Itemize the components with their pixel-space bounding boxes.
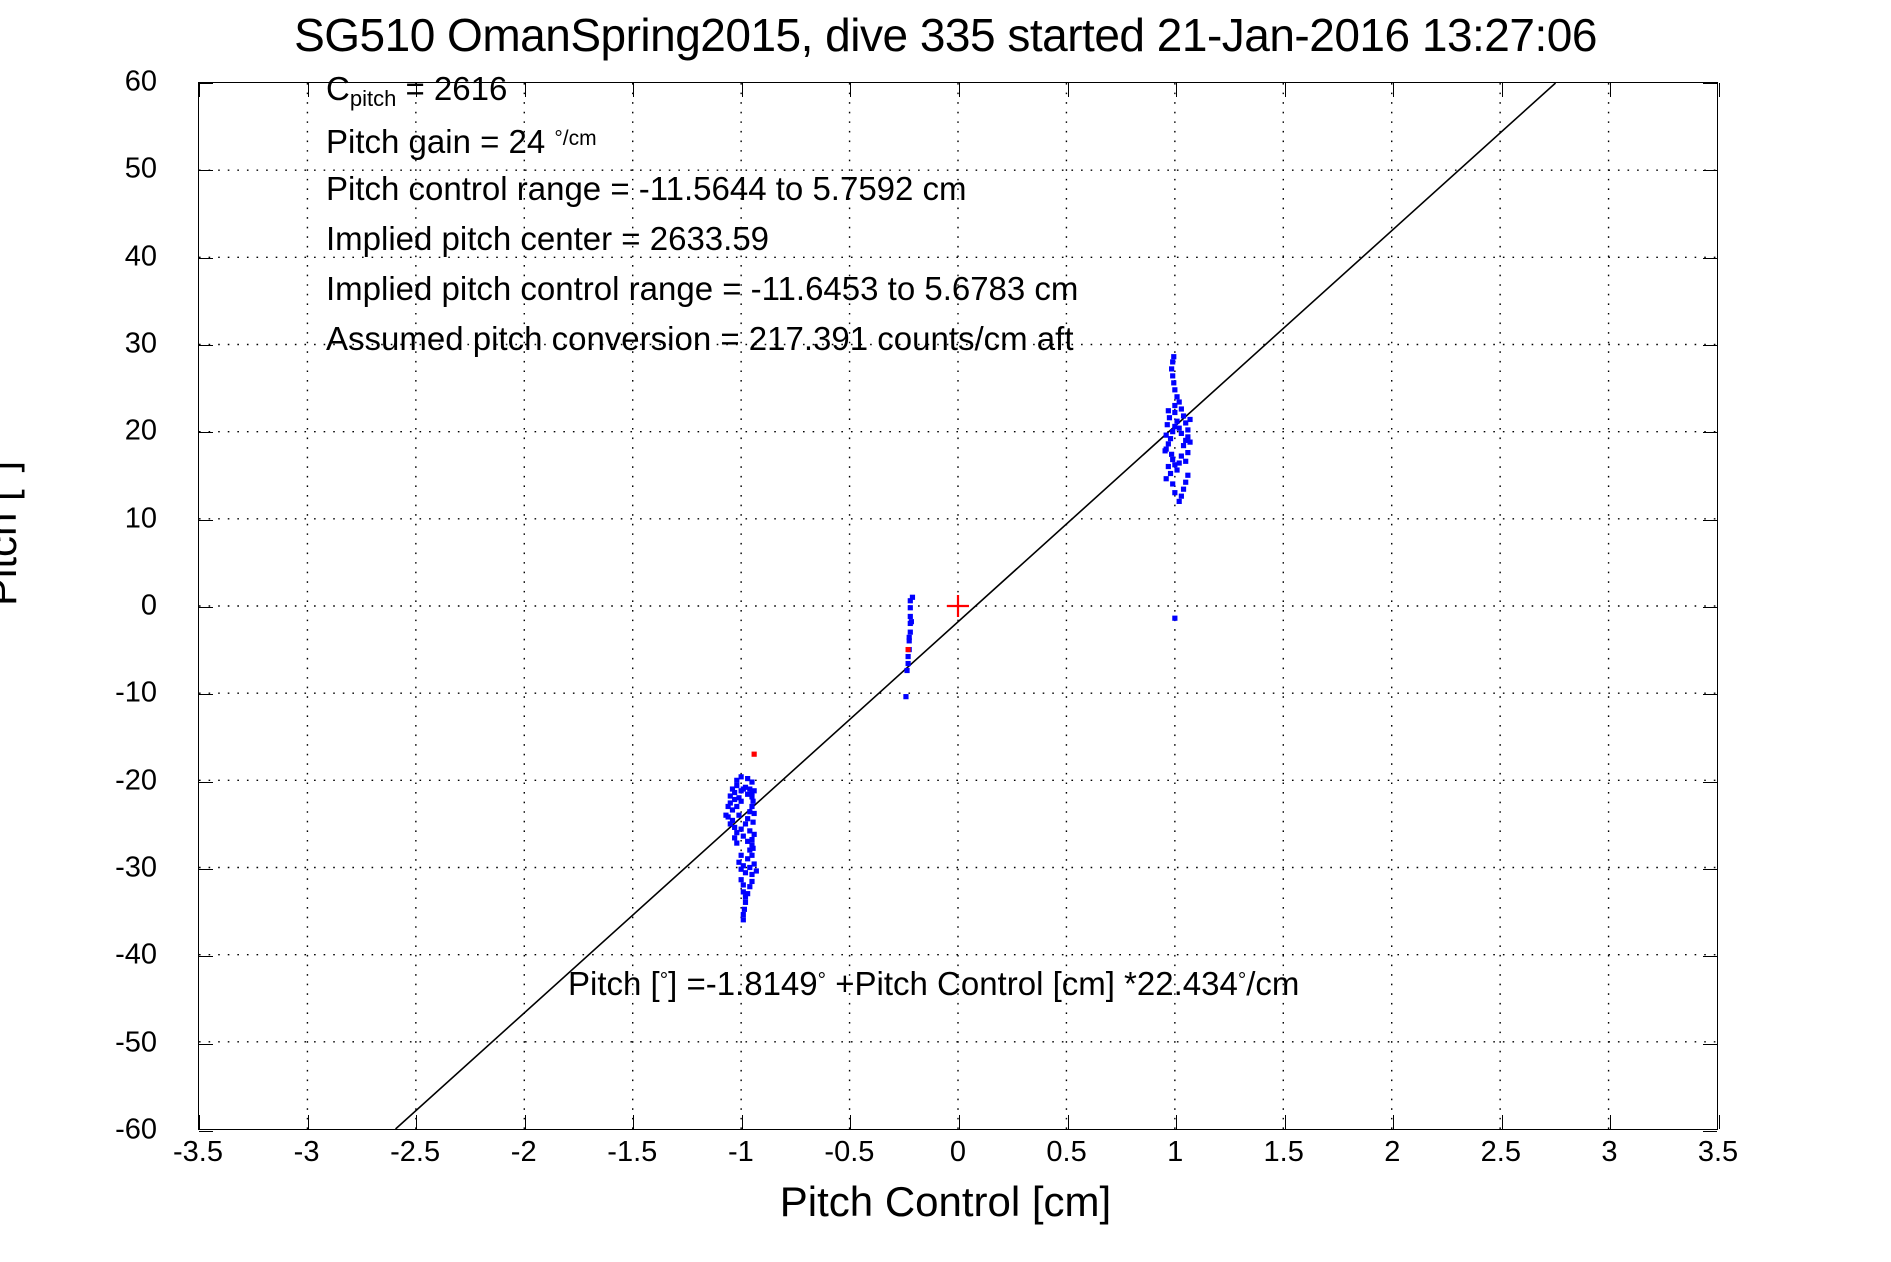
data-point [1177, 460, 1182, 465]
x-tick-label: 3.5 [1648, 1136, 1788, 1169]
data-point [1174, 467, 1179, 472]
y-tick-mark [1703, 782, 1717, 783]
series-outliers-markers [752, 647, 911, 757]
data-point [1177, 499, 1182, 504]
y-tick-mark [1703, 83, 1717, 84]
y-tick-mark [199, 1044, 213, 1045]
data-point [1170, 481, 1175, 486]
data-point [908, 614, 913, 619]
data-point [745, 891, 750, 896]
y-tick-mark [1703, 432, 1717, 433]
data-point [747, 884, 752, 889]
data-point [745, 816, 750, 821]
data-point [1183, 480, 1188, 485]
chart-title: SG510 OmanSpring2015, dive 335 started 2… [0, 8, 1891, 62]
x-tick-mark [1393, 1115, 1394, 1129]
data-point [734, 783, 739, 788]
x-axis-label: Pitch Control [cm] [0, 1178, 1891, 1226]
equation-part2: ] =-1.8149 [668, 965, 818, 1002]
data-point [1177, 426, 1182, 431]
c-pitch-value: = 2616 [396, 70, 507, 107]
data-point [1169, 452, 1174, 457]
data-point [1187, 440, 1192, 445]
equation-degree-3: ° [1238, 969, 1246, 992]
data-point [904, 668, 909, 673]
y-tick-mark [199, 345, 213, 346]
data-point [1185, 450, 1190, 455]
equation-degree-1: ° [660, 969, 668, 992]
equation-degree-2: ° [818, 969, 826, 992]
data-point [1163, 448, 1168, 453]
data-point [745, 839, 750, 844]
y-tick-mark [1703, 1044, 1717, 1045]
y-tick-mark [199, 520, 213, 521]
data-point [1172, 616, 1177, 621]
y-tick-mark [1703, 694, 1717, 695]
data-point [750, 846, 755, 851]
annotation-pitch-gain: Pitch gain = 24 °/cm [326, 114, 1426, 164]
data-point [726, 804, 731, 809]
y-tick-label: 30 [37, 328, 157, 361]
data-point [1172, 387, 1177, 392]
data-point [1170, 429, 1175, 434]
data-point [909, 619, 914, 624]
equation-part1: Pitch [ [568, 965, 660, 1002]
y-tick-mark [1703, 956, 1717, 957]
y-tick-mark [199, 694, 213, 695]
y-tick-label: -20 [37, 764, 157, 797]
data-point [1164, 476, 1169, 481]
y-tick-mark [1703, 520, 1717, 521]
data-point [903, 694, 908, 699]
data-point [723, 813, 728, 818]
data-point [743, 900, 748, 905]
data-point [728, 793, 733, 798]
data-point [1183, 459, 1188, 464]
annotation-pitch-control-range: Pitch control range = -11.5644 to 5.7592… [326, 164, 1426, 214]
x-tick-mark [1176, 1115, 1177, 1129]
y-tick-mark [199, 432, 213, 433]
data-point [732, 835, 737, 840]
c-pitch-subscript: pitch [350, 86, 396, 111]
y-tick-mark [1703, 258, 1717, 259]
equation-part4: /cm [1246, 965, 1299, 1002]
x-tick-mark [742, 1115, 743, 1129]
x-tick-mark [1285, 1115, 1286, 1129]
data-point [734, 804, 739, 809]
y-tick-mark [199, 782, 213, 783]
data-point [1172, 410, 1177, 415]
data-point [906, 654, 911, 659]
y-tick-label: 60 [37, 66, 157, 99]
data-point [752, 861, 757, 866]
x-tick-mark [850, 1115, 851, 1129]
data-point [749, 804, 754, 809]
data-point [1185, 427, 1190, 432]
data-point [906, 661, 911, 666]
y-tick-mark [1703, 869, 1717, 870]
data-point [736, 813, 741, 818]
data-point [741, 834, 746, 839]
data-point [749, 879, 754, 884]
data-point [910, 595, 915, 600]
series-pitch-center-marker [947, 595, 969, 617]
y-tick-mark [1703, 1131, 1717, 1132]
data-point [1172, 490, 1177, 495]
y-tick-mark [199, 956, 213, 957]
annotation-implied-pitch-control-range: Implied pitch control range = -11.6453 t… [326, 264, 1426, 314]
data-point [1168, 471, 1173, 476]
data-point [1187, 417, 1192, 422]
data-point [1185, 434, 1190, 439]
data-point [749, 779, 754, 784]
series-pitch-observations [723, 354, 1192, 922]
x-tick-mark [633, 1115, 634, 1129]
data-point [1174, 419, 1179, 424]
data-point [1172, 403, 1177, 408]
y-tick-mark [1703, 345, 1717, 346]
data-point [752, 832, 757, 837]
data-point [908, 630, 913, 635]
x-tick-mark [1719, 1115, 1720, 1129]
data-point [739, 853, 744, 858]
y-tick-label: -10 [37, 677, 157, 710]
data-point [754, 868, 759, 873]
x-tick-mark [1502, 83, 1503, 97]
data-point [752, 788, 757, 793]
data-point [739, 827, 744, 832]
y-axis-label: Pitch [°] [0, 461, 26, 606]
data-point [1167, 415, 1172, 420]
data-point [1170, 457, 1175, 462]
y-tick-mark [1703, 170, 1717, 171]
x-tick-mark [308, 83, 309, 97]
data-point [1164, 433, 1169, 438]
y-tick-label: -50 [37, 1026, 157, 1059]
pitch-gain-units: °/cm [554, 127, 596, 150]
y-tick-label: -30 [37, 852, 157, 885]
data-point [730, 818, 735, 823]
data-point [907, 635, 912, 640]
data-point [1179, 453, 1184, 458]
c-pitch-prefix: C [326, 70, 350, 107]
fit-equation-label: Pitch [°] =-1.8149° +Pitch Control [cm] … [568, 965, 1299, 1003]
x-tick-mark [1719, 83, 1720, 97]
data-point [1170, 373, 1175, 378]
marker-plus [947, 595, 969, 617]
data-point [1179, 406, 1184, 411]
y-tick-mark [1703, 607, 1717, 608]
data-point [750, 820, 755, 825]
y-tick-label: 50 [37, 153, 157, 186]
y-tick-mark [199, 170, 213, 171]
x-tick-mark [1068, 1115, 1069, 1129]
data-point [1166, 464, 1171, 469]
x-tick-mark [416, 1115, 417, 1129]
x-tick-mark [308, 1115, 309, 1129]
data-point [749, 853, 754, 858]
equation-part3: +Pitch Control [cm] *22.434 [826, 965, 1238, 1002]
annotation-implied-pitch-center: Implied pitch center = 2633.59 [326, 214, 1426, 264]
data-point [1179, 494, 1184, 499]
data-point [743, 821, 748, 826]
data-point [750, 799, 755, 804]
data-point [742, 907, 747, 912]
data-point [739, 877, 744, 882]
y-tick-label: 40 [37, 240, 157, 273]
data-point [739, 774, 744, 779]
x-tick-mark [199, 1115, 200, 1129]
y-tick-label: -40 [37, 939, 157, 972]
data-point [741, 863, 746, 868]
x-tick-mark [525, 1115, 526, 1129]
data-point [1166, 441, 1171, 446]
data-point [1181, 487, 1186, 492]
data-point [1174, 394, 1179, 399]
y-tick-mark [199, 1131, 213, 1132]
data-point [741, 912, 746, 917]
data-point [741, 882, 746, 887]
x-tick-mark [1610, 83, 1611, 97]
data-point [752, 752, 757, 757]
annotation-block: Cpitch = 2616 Pitch gain = 24 °/cm Pitch… [326, 64, 1426, 364]
data-point [732, 825, 737, 830]
annotation-assumed-pitch-conversion: Assumed pitch conversion = 217.391 count… [326, 314, 1426, 364]
data-point [906, 647, 911, 652]
y-tick-mark [199, 258, 213, 259]
y-tick-mark [199, 607, 213, 608]
data-point [741, 917, 746, 922]
annotation-c-pitch: Cpitch = 2616 [326, 64, 1426, 114]
y-tick-mark [199, 869, 213, 870]
data-point [1166, 408, 1171, 413]
data-point [739, 799, 744, 804]
data-point [752, 811, 757, 816]
data-point [743, 870, 748, 875]
data-point [1185, 473, 1190, 478]
data-point [734, 840, 739, 845]
data-point [1181, 443, 1186, 448]
x-tick-mark [959, 1115, 960, 1129]
y-tick-label: 20 [37, 415, 157, 448]
data-point [1181, 413, 1186, 418]
x-tick-mark [1502, 1115, 1503, 1129]
data-point [1169, 366, 1174, 371]
data-point [1179, 431, 1184, 436]
data-point [1171, 380, 1176, 385]
x-tick-mark [1610, 1115, 1611, 1129]
pitch-gain-text: Pitch gain = 24 [326, 123, 554, 160]
y-tick-mark [199, 83, 213, 84]
x-tick-mark [199, 83, 200, 97]
y-tick-label: 10 [37, 502, 157, 535]
data-point [908, 605, 913, 610]
data-point [1165, 422, 1170, 427]
y-tick-label: 0 [37, 590, 157, 623]
